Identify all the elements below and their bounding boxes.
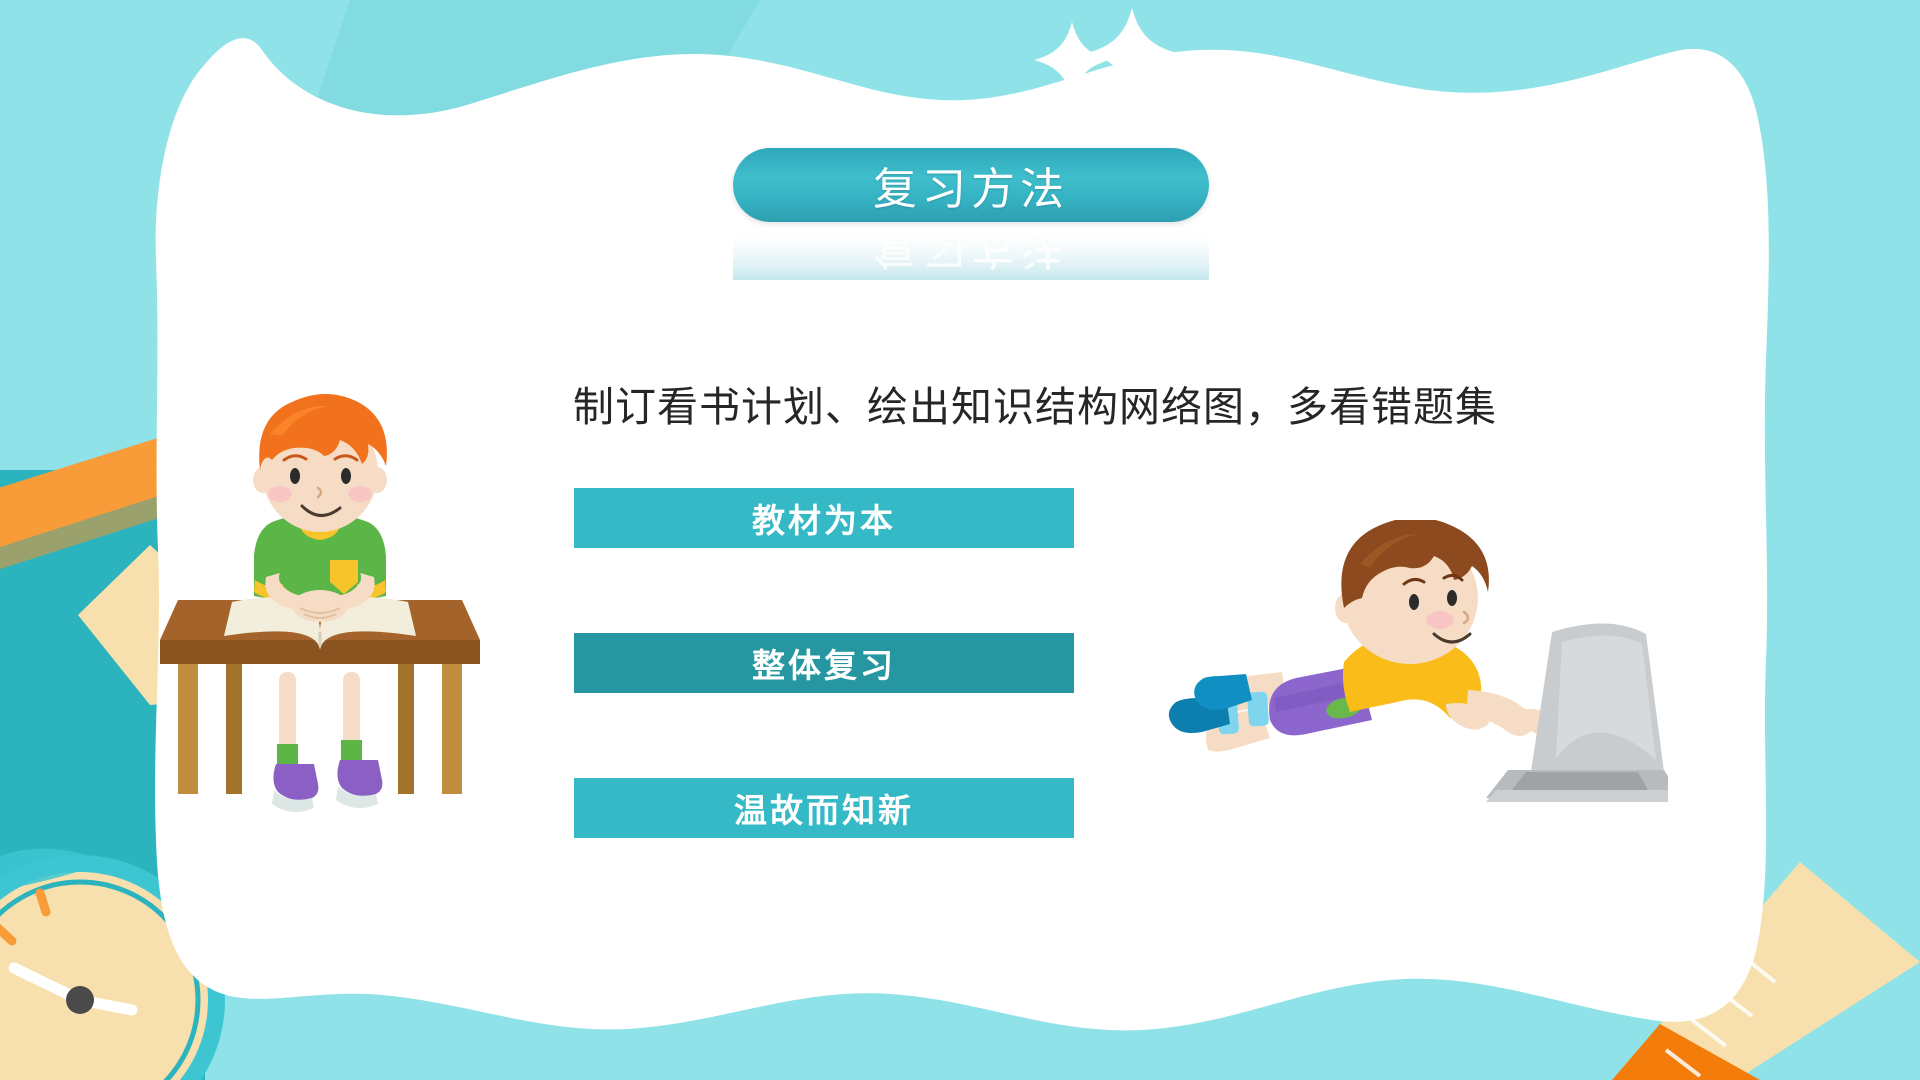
bar-item-2[interactable]: 整体复习	[574, 633, 1074, 693]
bar-list: 教材为本 整体复习 温故而知新	[574, 488, 1074, 838]
head	[1335, 520, 1489, 664]
bar-label: 整体复习	[752, 639, 896, 687]
legs	[1169, 672, 1286, 752]
bar-label: 温故而知新	[734, 784, 914, 832]
title-block: 复习方法 复习方法	[733, 148, 1209, 238]
head	[253, 394, 387, 532]
title-reflection: 复习方法	[733, 224, 1209, 280]
illustration-boy-reading-at-desk	[160, 372, 480, 842]
page-title: 复习方法	[873, 153, 1069, 217]
desk	[160, 597, 480, 794]
title-pill: 复习方法	[733, 148, 1209, 222]
legs	[272, 672, 382, 812]
bar-label: 教材为本	[752, 494, 896, 542]
title-reflection-text: 复习方法	[873, 224, 1069, 280]
slide-content: 复习方法 复习方法 制订看书计划、绘出知识结构网络图，多看错题集 教材为本 整体…	[0, 0, 1920, 1080]
slide-root: 复习方法 复习方法 制订看书计划、绘出知识结构网络图，多看错题集 教材为本 整体…	[0, 0, 1920, 1080]
bar-item-3[interactable]: 温故而知新	[574, 778, 1074, 838]
illustration-boy-lying-with-laptop	[1148, 520, 1668, 840]
bar-item-1[interactable]: 教材为本	[574, 488, 1074, 548]
body-text: 制订看书计划、绘出知识结构网络图，多看错题集	[573, 373, 1673, 433]
